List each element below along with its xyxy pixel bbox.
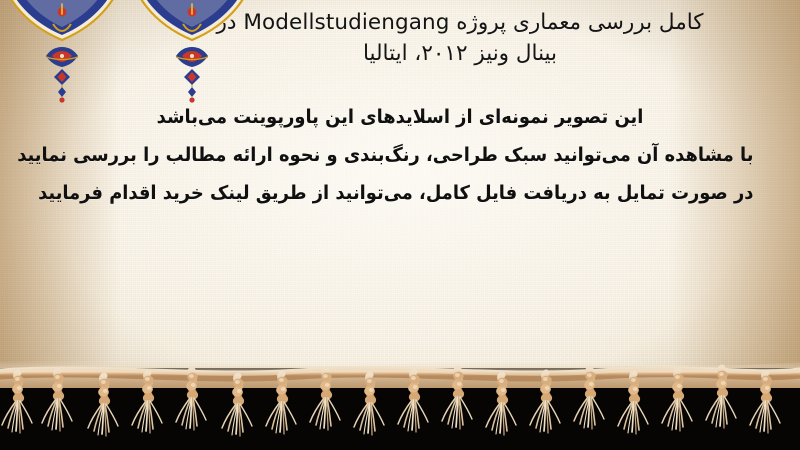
- carpet-fringe: [0, 354, 800, 450]
- persian-tazhib-pendant-left: [46, 47, 78, 103]
- body-line-3: در صورت تمایل به دریافت فایل کامل، می‌تو…: [47, 184, 754, 203]
- slide-body: این تصویر نمونه‌ای از اسلایدهای این پاور…: [24, 108, 776, 203]
- slide-title-line-2: بینال ونیز ۲۰۱۲، ایتالیا: [160, 39, 760, 70]
- presentation-slide: کامل بررسی معماری پروژه Modellstudiengan…: [0, 0, 800, 450]
- body-line-2: با مشاهده آن می‌توانید سبک طراحی، رنگ‌بن…: [47, 146, 754, 165]
- persian-tazhib-medallion-left: [0, 0, 124, 40]
- body-line-1: این تصویر نمونه‌ای از اسلایدهای این پاور…: [47, 108, 754, 127]
- slide-title-line-1: کامل بررسی معماری پروژه Modellstudiengan…: [160, 8, 760, 39]
- slide-title: کامل بررسی معماری پروژه Modellstudiengan…: [160, 8, 760, 69]
